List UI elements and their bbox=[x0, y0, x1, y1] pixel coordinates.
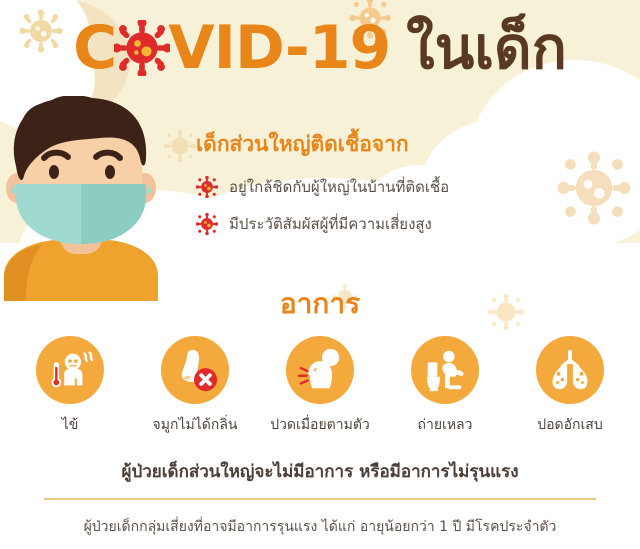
infection-heading: เด็กส่วนใหญ่ติดเชื้อจาก bbox=[196, 128, 626, 161]
symptoms-icon-row: ไข้ จมูกไม่ได้กลิ่น bbox=[8, 336, 632, 436]
list-item-label: มีประวัติสัมผัสผู้ที่มีความเสี่ยงสูง bbox=[229, 212, 432, 236]
symptom-label: ถ่ายเหลว bbox=[418, 414, 473, 436]
title-text-thai: ในเด็ก bbox=[406, 19, 567, 77]
symptom-label: จมูกไม่ได้กลิ่น bbox=[153, 414, 238, 436]
list-item: มีประวัติสัมผัสผู้ที่มีความเสี่ยงสูง bbox=[196, 212, 626, 236]
main-note: ผู้ป่วยเด็กส่วนใหญ่จะไม่มีอาการ หรือมีอา… bbox=[0, 458, 640, 485]
title-text-vid: VID-19 bbox=[168, 18, 390, 78]
symptoms-heading: อาการ bbox=[0, 282, 640, 326]
symptom-label: ไข้ bbox=[62, 414, 79, 436]
lungs-pneumonia-icon bbox=[546, 346, 594, 394]
section-divider bbox=[44, 498, 596, 500]
list-item-label: อยู่ใกล้ชิดกับผู้ใหญ่ในบ้านที่ติดเชื้อ bbox=[229, 175, 449, 199]
symptom-label: ปอดอักเสบ bbox=[537, 414, 603, 436]
virus-icon bbox=[196, 176, 218, 198]
symptom-item-diarrhea: ถ่ายเหลว bbox=[383, 336, 507, 436]
page-header: C VID-19 ในเด็ก bbox=[0, 18, 640, 78]
symptom-item-no-smell: จมูกไม่ได้กลิ่น bbox=[133, 336, 257, 436]
symptom-item-pneumonia: ปอดอักเสบ bbox=[508, 336, 632, 436]
virus-icon bbox=[196, 213, 218, 235]
list-item: อยู่ใกล้ชิดกับผู้ใหญ่ในบ้านที่ติดเชื้อ bbox=[196, 175, 626, 199]
icon-badge bbox=[536, 336, 604, 404]
icon-badge bbox=[36, 336, 104, 404]
fever-thermometer-icon bbox=[46, 346, 94, 394]
symptom-item-body-ache: ปวดเมื่อยตามตัว bbox=[258, 336, 382, 436]
nose-no-smell-icon bbox=[171, 346, 219, 394]
icon-badge bbox=[286, 336, 354, 404]
infographic-root: C VID-19 ในเด็ก bbox=[0, 0, 640, 549]
risk-group-note: ผู้ป่วยเด็กกลุ่มเสี่ยงที่อาจมีอาการรุนแร… bbox=[26, 516, 614, 538]
icon-badge bbox=[411, 336, 479, 404]
symptom-label: ปวดเมื่อยตามตัว bbox=[270, 414, 370, 436]
icon-badge bbox=[161, 336, 229, 404]
virus-icon bbox=[114, 20, 170, 76]
infection-section: เด็กส่วนใหญ่ติดเชื้อจาก อยู่ใกล้ชิดกับผู… bbox=[196, 128, 626, 249]
body-ache-icon bbox=[296, 346, 344, 394]
page-title: C VID-19 ในเด็ก bbox=[0, 18, 640, 78]
toilet-diarrhea-icon bbox=[421, 346, 469, 394]
virus-decoration-icon bbox=[162, 128, 198, 164]
title-letter-c: C bbox=[73, 18, 116, 78]
symptom-item-fever: ไข้ bbox=[8, 336, 132, 436]
child-with-mask-illustration bbox=[0, 96, 162, 301]
